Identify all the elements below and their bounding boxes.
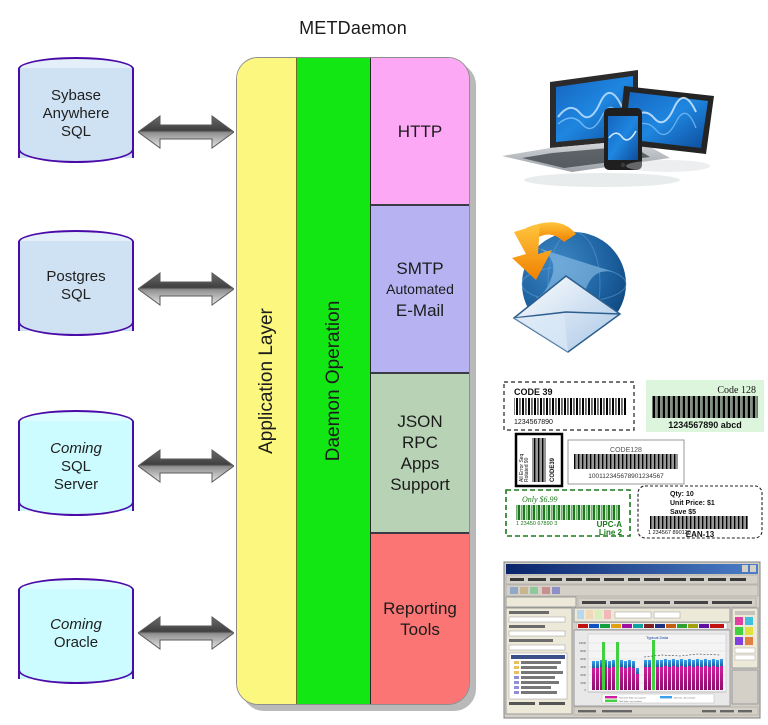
metdaemon-panel: Application Layer Daemon Operation HTTP … <box>236 57 470 705</box>
column-application-layer[interactable]: Application Layer <box>237 58 297 704</box>
smartphone <box>604 108 642 170</box>
svg-text:10000: 10000 <box>579 641 587 645</box>
ean13-unit: Unit Price: $1 <box>670 500 715 507</box>
service-reporting-tools[interactable]: Reporting Tools <box>371 534 469 704</box>
svg-text:Total Units Sold - by Customer: Total Units Sold - by Customer <box>619 696 646 699</box>
app-screenshot-illustration: Typical Data 10000 8000 6000 4000 2000 1… <box>502 560 762 720</box>
database-label: Coming Oracle <box>18 616 134 652</box>
code39-heading: CODE 39 <box>514 387 553 397</box>
arrow-sybase <box>138 113 210 151</box>
database-label: Sybase Anywhere SQL <box>18 87 134 141</box>
cylinder-bottom <box>18 656 134 684</box>
svg-text:4000: 4000 <box>580 665 586 669</box>
column-services: HTTP SMTP Automated E-Mail JSON RPC Apps <box>371 58 469 704</box>
ean13-save: Save $5 <box>670 509 696 516</box>
service-label: HTTP <box>398 121 442 142</box>
code128-heading: Code 128 <box>717 385 756 396</box>
service-http[interactable]: HTTP <box>371 58 469 206</box>
arrow-sql-server <box>138 447 210 485</box>
svg-text:Typical Data: Typical Data <box>646 635 669 640</box>
database-sybase[interactable]: Sybase Anywhere SQL <box>18 57 138 175</box>
rotated-side: CODE39 <box>550 457 556 482</box>
application-layer-label: Application Layer <box>256 308 278 454</box>
code128wide-digits: 100112345678901234567 <box>588 473 664 480</box>
code128-digits: 1234567890 abcd <box>668 420 742 430</box>
column-daemon-operation[interactable]: Daemon Operation <box>297 58 371 704</box>
service-label: JSON RPC Apps Support <box>390 411 450 495</box>
barcode-label-code128: Code 128 1234567890 abcd <box>646 380 764 432</box>
service-json-rpc[interactable]: JSON RPC Apps Support <box>371 374 469 534</box>
database-label: Coming SQL Server <box>18 440 134 494</box>
svg-text:2000: 2000 <box>580 673 586 677</box>
service-smtp[interactable]: SMTP Automated E-Mail <box>371 206 469 374</box>
barcode-label-code39: CODE 39 1234567890 <box>504 382 634 430</box>
page-title: METDaemon <box>236 18 470 39</box>
upca-line2: Line 2 <box>599 528 623 537</box>
upca-price: Only $6.99 <box>522 495 558 504</box>
svg-text:6000: 6000 <box>580 657 586 661</box>
panel-frame: Application Layer Daemon Operation HTTP … <box>236 57 470 705</box>
barcode-label-code128-wide: CODE128 100112345678901234567 <box>568 440 684 484</box>
cylinder-bottom <box>18 308 134 336</box>
svg-text:1000: 1000 <box>580 681 586 685</box>
diagram-canvas: METDaemon Sybase Anywhere SQL Postgres S… <box>0 0 768 725</box>
barcode-label-upca: Only $6.99 1 23450 67890 3 UPC-A Line 2 <box>506 490 630 537</box>
ean13-name: EAN-13 <box>686 530 715 539</box>
svg-text:Net Units - by Customer: Net Units - by Customer <box>674 696 696 699</box>
code39-digits: 1234567890 <box>514 419 553 426</box>
database-label: Postgres SQL <box>18 268 134 304</box>
database-sql-server[interactable]: Coming SQL Server <box>18 410 138 528</box>
code128wide-heading: CODE128 <box>610 447 642 454</box>
ean13-qty: Qty: 10 <box>670 491 694 498</box>
barcode-illustration: CODE 39 1234567890 Code 128 1234567890 a… <box>498 378 766 540</box>
arrow-postgres <box>138 270 210 308</box>
svg-text:8000: 8000 <box>580 649 586 653</box>
daemon-operation-label: Daemon Operation <box>323 301 345 462</box>
svg-text:Total Value - by Customer: Total Value - by Customer <box>619 700 642 703</box>
globe-mail-illustration <box>492 214 652 354</box>
barcode-label-rotated: Rotated 90 All Error Seq CODE39 <box>516 434 562 486</box>
upca-digits: 1 23450 67890 3 <box>516 521 557 527</box>
service-label: Reporting Tools <box>383 598 457 640</box>
service-label: SMTP Automated E-Mail <box>386 258 454 321</box>
devices-illustration <box>492 62 764 194</box>
rotated-line2: All Error Seq <box>519 453 525 482</box>
database-oracle[interactable]: Coming Oracle <box>18 578 138 696</box>
barcode-label-ean13: Qty: 10 Unit Price: $1 Save $5 1 234567 … <box>638 486 762 539</box>
arrow-oracle <box>138 614 210 652</box>
ean13-digits: 1 234567 890120 <box>648 530 691 536</box>
database-postgres[interactable]: Postgres SQL <box>18 230 138 348</box>
